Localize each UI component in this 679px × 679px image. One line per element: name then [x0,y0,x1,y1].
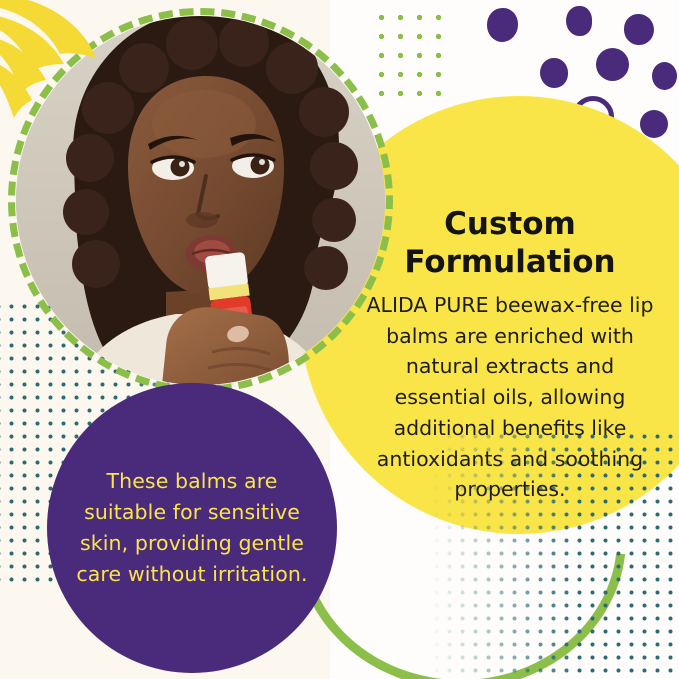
right-text-column: Custom Formulation ALIDA PURE beewax-fre… [360,205,660,505]
heading-line-2: Formulation [404,244,615,280]
body-copy: ALIDA PURE beewax-free lip balms are enr… [360,290,660,505]
monstera-leaf-icon [0,0,116,124]
green-dot-grid [372,8,448,108]
heading-line-1: Custom [444,206,576,242]
heading: Custom Formulation [360,205,660,282]
purple-highlight-circle: These balms are suitable for sensitive s… [47,383,337,673]
purple-circle-text: These balms are suitable for sensitive s… [66,466,318,591]
promo-graphic: These balms are suitable for sensitive s… [0,0,679,679]
